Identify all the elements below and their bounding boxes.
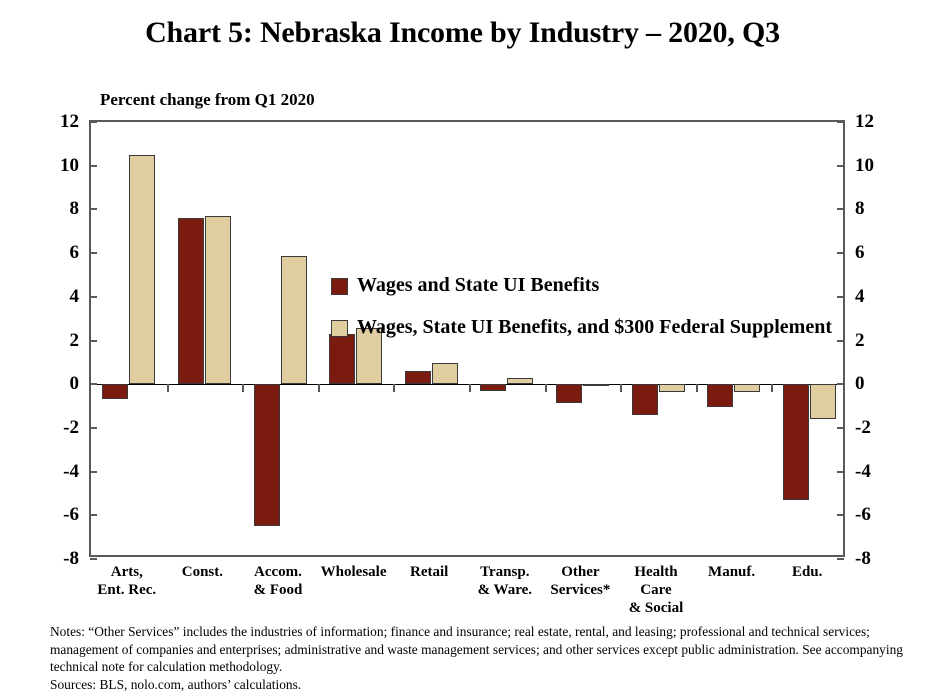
x-axis-category-line: & Food <box>234 581 322 599</box>
legend-item-wages-state-ui-federal: Wages, State UI Benefits, and $300 Feder… <box>331 316 832 338</box>
y-axis-label-left: -8 <box>37 549 79 568</box>
bar <box>632 384 658 415</box>
y-axis-label-right: -2 <box>855 418 897 437</box>
y-axis-label-left: 4 <box>37 287 79 306</box>
y-axis-label-left: 8 <box>37 199 79 218</box>
bar <box>205 216 231 384</box>
chart-notes: Notes: “Other Services” includes the ind… <box>50 623 910 693</box>
y-axis-label-right: 6 <box>855 243 897 262</box>
x-axis-category-label: Arts,Ent. Rec. <box>83 563 171 599</box>
y-tick-left <box>90 208 97 210</box>
y-tick-left <box>90 383 97 385</box>
chart-container: Chart 5: Nebraska Income by Industry – 2… <box>0 0 925 693</box>
y-tick-right <box>837 121 844 123</box>
bar <box>810 384 836 419</box>
x-axis-category-line: Const. <box>159 563 247 581</box>
y-tick-left <box>90 296 97 298</box>
bar <box>405 371 431 384</box>
legend-label-light: Wages, State UI Benefits, and $300 Feder… <box>357 316 832 338</box>
y-axis-label-left: 10 <box>37 156 79 175</box>
bar <box>734 384 760 392</box>
y-tick-right <box>837 427 844 429</box>
y-tick-left <box>90 121 97 123</box>
x-tick <box>318 384 320 392</box>
bar <box>480 384 506 391</box>
x-axis-category-line: Care <box>612 581 700 599</box>
y-axis-label-left: -2 <box>37 418 79 437</box>
y-tick-left <box>90 514 97 516</box>
y-tick-right <box>837 558 844 560</box>
x-axis-category-label: Const. <box>159 563 247 581</box>
y-tick-left <box>90 340 97 342</box>
y-tick-left <box>90 427 97 429</box>
bar <box>129 155 155 384</box>
y-tick-right <box>837 252 844 254</box>
legend-item-wages-state-ui: Wages and State UI Benefits <box>331 274 832 296</box>
y-axis-label-right: -6 <box>855 505 897 524</box>
bar <box>254 384 280 526</box>
y-tick-left <box>90 252 97 254</box>
y-axis-label-left: 12 <box>37 112 79 131</box>
x-axis-category-label: Transp.& Ware. <box>461 563 549 599</box>
y-tick-left <box>90 558 97 560</box>
y-axis-label-left: 6 <box>37 243 79 262</box>
x-axis-category-label: Edu. <box>763 563 851 581</box>
bar <box>583 384 609 386</box>
x-axis-category-line: Edu. <box>763 563 851 581</box>
chart-title: Chart 5: Nebraska Income by Industry – 2… <box>0 16 925 50</box>
y-axis-label-right: 12 <box>855 112 897 131</box>
y-tick-right <box>837 165 844 167</box>
sources-line: Sources: BLS, nolo.com, authors’ calcula… <box>50 676 910 693</box>
legend-swatch-light <box>331 320 348 337</box>
x-axis-category-line: Accom. <box>234 563 322 581</box>
x-axis-category-line: Ent. Rec. <box>83 581 171 599</box>
x-tick <box>696 384 698 392</box>
bar <box>707 384 733 407</box>
plot-area: 121086420-2-4-6-8 121086420-2-4-6-8 Wage… <box>89 120 845 557</box>
notes-line: Notes: “Other Services” includes the ind… <box>50 623 910 676</box>
x-tick <box>771 384 773 392</box>
y-tick-right <box>837 383 844 385</box>
x-axis-category-line: Retail <box>385 563 473 581</box>
y-axis-label-left: 2 <box>37 331 79 350</box>
x-tick <box>393 384 395 392</box>
y-tick-left <box>90 165 97 167</box>
chart-subtitle: Percent change from Q1 2020 <box>100 90 315 110</box>
x-tick <box>242 384 244 392</box>
x-axis-category-label: Manuf. <box>688 563 776 581</box>
bar <box>556 384 582 403</box>
x-tick <box>469 384 471 392</box>
bar <box>102 384 128 399</box>
y-axis-label-left: -6 <box>37 505 79 524</box>
y-axis-label-right: 8 <box>855 199 897 218</box>
legend-label-dark: Wages and State UI Benefits <box>357 274 599 296</box>
x-axis-category-label: OtherServices* <box>537 563 625 599</box>
x-axis-category-label: HealthCare& Social <box>612 563 700 617</box>
y-tick-right <box>837 340 844 342</box>
legend-swatch-dark <box>331 278 348 295</box>
y-axis-label-left: -4 <box>37 462 79 481</box>
x-axis-category-line: Services* <box>537 581 625 599</box>
x-axis-category-line: Arts, <box>83 563 171 581</box>
chart-legend: Wages and State UI Benefits Wages, State… <box>331 274 832 358</box>
x-axis-category-line: Manuf. <box>688 563 776 581</box>
bar <box>432 363 458 384</box>
x-axis-category-label: Wholesale <box>310 563 398 581</box>
bar <box>281 256 307 384</box>
bar <box>783 384 809 500</box>
y-tick-right <box>837 208 844 210</box>
bar <box>178 218 204 384</box>
y-axis-label-left: 0 <box>37 374 79 393</box>
x-axis-category-line: Other <box>537 563 625 581</box>
x-axis-category-label: Retail <box>385 563 473 581</box>
y-tick-right <box>837 471 844 473</box>
y-axis-label-right: -4 <box>855 462 897 481</box>
x-axis-category-line: Health <box>612 563 700 581</box>
y-tick-right <box>837 296 844 298</box>
x-axis-category-label: Accom.& Food <box>234 563 322 599</box>
y-axis-label-right: 2 <box>855 331 897 350</box>
y-axis-label-right: 4 <box>855 287 897 306</box>
x-axis-category-line: & Ware. <box>461 581 549 599</box>
x-axis-category-line: Wholesale <box>310 563 398 581</box>
x-tick <box>545 384 547 392</box>
x-axis-category-line: & Social <box>612 599 700 617</box>
y-tick-right <box>837 514 844 516</box>
bar <box>507 378 533 385</box>
x-tick <box>167 384 169 392</box>
y-axis-label-right: 10 <box>855 156 897 175</box>
y-axis-label-right: -8 <box>855 549 897 568</box>
y-axis-label-right: 0 <box>855 374 897 393</box>
x-axis-category-line: Transp. <box>461 563 549 581</box>
y-tick-left <box>90 471 97 473</box>
x-tick <box>620 384 622 392</box>
bar <box>659 384 685 392</box>
